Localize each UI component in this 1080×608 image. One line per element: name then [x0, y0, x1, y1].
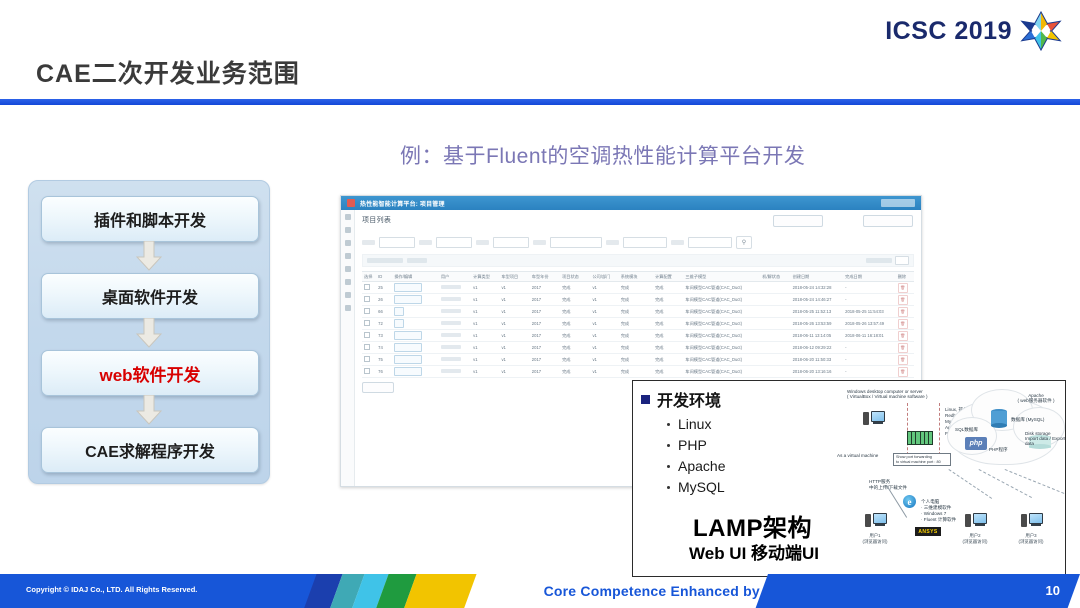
http-service-label: HTTP服务 中的上传/下载文件: [869, 479, 917, 491]
row-project-status: 完成: [560, 282, 590, 294]
row-company: v1: [590, 306, 618, 318]
bullet-square-icon: [641, 395, 650, 404]
row-system-module: 完成: [619, 294, 653, 306]
table-row[interactable]: 76 v1 v1 2017 完成 v1 完成 完成 车间模型CAC管道(CAC_…: [362, 366, 914, 378]
row-finished: -: [843, 366, 896, 378]
row-solve-status: [760, 342, 790, 354]
row-solve-status: [760, 318, 790, 330]
sidebar-item-settings-icon[interactable]: [345, 227, 351, 233]
link-line-3: [1005, 469, 1065, 494]
slide: ICSC 2019 CAE二次开发业务范围 例：基于Fluent的空调热性能计算…: [0, 0, 1080, 608]
flow-arrow-1-icon: [136, 241, 162, 271]
database-cylinder-icon: [991, 409, 1007, 429]
row-project-status: 完成: [560, 294, 590, 306]
row-id: 73: [376, 330, 392, 342]
row-solve-status: [760, 282, 790, 294]
row-calc-config: 完成: [653, 330, 683, 342]
row-calc-type: v1: [471, 354, 499, 366]
row-company: v1: [590, 366, 618, 378]
col-solve-status[interactable]: 机/解状态: [760, 272, 790, 282]
filter-input-date-from[interactable]: [623, 237, 667, 248]
row-solve-status: [760, 366, 790, 378]
host-computer-icon: [863, 411, 885, 427]
row-delete-button[interactable]: 🗑: [896, 342, 914, 354]
mysql-db-label: 数据库 (MySQL): [1011, 417, 1044, 423]
col-action[interactable]: 操作/编辑: [392, 272, 439, 282]
flow-step-4[interactable]: CAE求解程序开发: [41, 427, 259, 473]
row-action-button[interactable]: [392, 354, 439, 366]
filter-label-status: [476, 240, 489, 245]
footer-stripes: [300, 574, 540, 608]
lamp-architecture-title: LAMP架构: [693, 508, 812, 543]
filter-input-calc-type[interactable]: [436, 237, 472, 248]
row-action-button[interactable]: [392, 318, 439, 330]
filter-label-date: [606, 240, 619, 245]
row-calc-type: v1: [471, 318, 499, 330]
col-user[interactable]: 用户: [439, 272, 471, 282]
row-project-status: 完成: [560, 366, 590, 378]
col-project-status[interactable]: 项目状态: [560, 272, 590, 282]
row-checkbox[interactable]: [362, 306, 376, 318]
flow-step-3[interactable]: web软件开发: [41, 350, 259, 396]
sidebar-item-users-icon[interactable]: [345, 240, 351, 246]
app-titlebar: 热性能智能计算平台: 项目管理: [341, 196, 921, 210]
row-action-button[interactable]: [392, 330, 439, 342]
flow-step-1-label: 插件和脚本开发: [94, 207, 206, 231]
app-top-buttons: [773, 215, 913, 227]
col-delete: 删除: [896, 272, 914, 282]
row-calc-config: 完成: [653, 342, 683, 354]
dev-item-linux: Linux: [667, 416, 831, 432]
row-car-year: 2017: [530, 318, 560, 330]
col-select[interactable]: 选择: [362, 272, 376, 282]
table-row[interactable]: 72 v1 v1 2017 完成 v1 完成 完成 车间模型CAC管道(CAC_…: [362, 318, 914, 330]
app-sidebar: [341, 210, 355, 486]
flow-step-1[interactable]: 插件和脚本开发: [41, 196, 259, 242]
row-car-year: 2017: [530, 342, 560, 354]
star-burst-logo-icon: [1020, 10, 1062, 52]
client-computer-2-icon: [965, 513, 987, 529]
dev-item-apache-label: Apache: [678, 458, 725, 474]
dev-environment-block: 开发环境 Linux PHP Apache MySQL: [641, 387, 831, 495]
row-calc-type: v1: [471, 342, 499, 354]
sidebar-item-database-icon[interactable]: [345, 292, 351, 298]
sidebar-item-edit-icon[interactable]: [345, 279, 351, 285]
row-calc-config: 完成: [653, 354, 683, 366]
footer-copyright: Copyright © IDAJ Co., LTD. All Rights Re…: [26, 585, 197, 594]
row-solve-status: [760, 294, 790, 306]
table-header-row: 选择 ID 操作/编辑 用户 计算类型 车型项目 车型年份 项目状态 公司/部门…: [362, 272, 914, 282]
row-user: [439, 294, 471, 306]
row-id: 72: [376, 318, 392, 330]
row-created: 2018-06-20 11:50:33: [791, 354, 844, 366]
dev-item-php: PHP: [667, 437, 831, 453]
row-created: 2018-05-26 13:53:59: [791, 318, 844, 330]
app-logo-icon: [347, 199, 355, 207]
row-finished: -: [843, 354, 896, 366]
footer-right-band: [756, 574, 1080, 608]
disk-storage-label: Disk storage Import data / Export data: [1025, 431, 1066, 446]
row-company: v1: [590, 342, 618, 354]
filter-bar: ⚲: [362, 236, 914, 249]
row-finished: 2018-05-26 13:57:49: [843, 318, 896, 330]
col-id[interactable]: ID: [376, 272, 392, 282]
row-id: 66: [376, 306, 392, 318]
row-id: 76: [376, 366, 392, 378]
client-2-label: 用户2 (浏览器访问): [955, 533, 995, 545]
sidebar-item-reports-icon[interactable]: [345, 253, 351, 259]
row-user: [439, 354, 471, 366]
row-car-project: v1: [499, 294, 529, 306]
result-range-text: [407, 258, 427, 263]
filter-label-keyword: [533, 240, 546, 245]
table-row[interactable]: 75 v1 v1 2017 完成 v1 完成 完成 车间模型CAC管道(CAC_…: [362, 354, 914, 366]
table-row[interactable]: 25 v1 v1 2017 完成 v1 完成 完成 车间模型CAC管道(CAC_…: [362, 282, 914, 294]
row-company: v1: [590, 354, 618, 366]
row-id: 75: [376, 354, 392, 366]
row-delete-button[interactable]: 🗑: [896, 330, 914, 342]
row-project-status: 完成: [560, 342, 590, 354]
result-summary-bar: [362, 254, 914, 267]
col-created[interactable]: 创建日期: [791, 272, 844, 282]
col-finished[interactable]: 完成日期: [843, 272, 896, 282]
dev-environment-heading: 开发环境: [641, 387, 831, 411]
row-calc-config: 完成: [653, 366, 683, 378]
row-car-project: v1: [499, 342, 529, 354]
server-rack-icon: [907, 431, 933, 445]
dev-environment-label: 开发环境: [657, 387, 721, 411]
row-checkbox[interactable]: [362, 282, 376, 294]
row-sub-model: 车间模型CAC管道(CAC_Duct): [683, 342, 760, 354]
dev-item-linux-label: Linux: [678, 416, 711, 432]
row-action-button[interactable]: [392, 282, 439, 294]
table-row[interactable]: 74 v1 v1 2017 完成 v1 完成 完成 车间模型CAC管道(CAC_…: [362, 342, 914, 354]
row-calc-config: 完成: [653, 294, 683, 306]
apache-label: Apache ( web服务器软件 ): [1009, 393, 1063, 404]
flow-panel: 插件和脚本开发 桌面软件开发 web软件开发 CAE求解程序开发: [28, 180, 270, 484]
bullet-dot-icon: [667, 465, 670, 468]
row-car-project: v1: [499, 330, 529, 342]
row-finished: -: [843, 294, 896, 306]
row-company: v1: [590, 318, 618, 330]
col-calc-config[interactable]: 计算配置: [653, 272, 683, 282]
dev-item-apache: Apache: [667, 458, 831, 474]
row-delete-button[interactable]: 🗑: [896, 306, 914, 318]
row-calc-type: v1: [471, 294, 499, 306]
bullet-dot-icon: [667, 486, 670, 489]
row-id: 74: [376, 342, 392, 354]
lamp-ui-title: Web UI 移动端UI: [689, 539, 819, 564]
row-solve-status: [760, 330, 790, 342]
row-system-module: 完成: [619, 342, 653, 354]
filter-label-user: [362, 240, 375, 245]
filter-input-keyword[interactable]: [550, 237, 602, 248]
flow-arrow-2-icon: [136, 318, 162, 348]
col-calc-type[interactable]: 计算类型: [471, 272, 499, 282]
col-sub-model[interactable]: 三维子模型: [683, 272, 760, 282]
app-title: 热性能智能计算平台: 项目管理: [360, 199, 445, 208]
row-delete-button[interactable]: 🗑: [896, 366, 914, 378]
row-car-year: 2017: [530, 306, 560, 318]
client-3-label: 用户3 (浏览器访问): [1011, 533, 1051, 545]
row-system-module: 完成: [619, 366, 653, 378]
row-car-project: v1: [499, 282, 529, 294]
port-forwarding-note: Show port forwarding to virtual machine …: [893, 453, 951, 466]
row-checkbox[interactable]: [362, 294, 376, 306]
vm-host-note: Windows desktop computer or server ( Vir…: [847, 389, 987, 399]
result-count-text: [367, 258, 403, 263]
network-diagram: Windows desktop computer or server ( Vir…: [829, 381, 1065, 576]
row-id: 25: [376, 282, 392, 294]
page-size-label: [866, 258, 892, 263]
row-checkbox[interactable]: [362, 342, 376, 354]
row-project-status: 完成: [560, 354, 590, 366]
row-checkbox[interactable]: [362, 354, 376, 366]
sidebar-item-dashboard-icon[interactable]: [345, 214, 351, 220]
row-finished: 2018-06-11 16:18:01: [843, 330, 896, 342]
row-created: 2018-06-20 13:16:16: [791, 366, 844, 378]
table-row[interactable]: 26 v1 v1 2017 完成 v1 完成 完成 车间模型CAC管道(CAC_…: [362, 294, 914, 306]
row-project-status: 完成: [560, 330, 590, 342]
php-label: PHP程序: [989, 447, 1008, 453]
col-company[interactable]: 公司/部门: [590, 272, 618, 282]
row-solve-status: [760, 354, 790, 366]
row-delete-button[interactable]: 🗑: [896, 318, 914, 330]
row-action-button[interactable]: [392, 306, 439, 318]
dev-item-mysql-label: MySQL: [678, 479, 725, 495]
row-calc-type: v1: [471, 330, 499, 342]
row-car-year: 2017: [530, 330, 560, 342]
col-car-project[interactable]: 车型项目: [499, 272, 529, 282]
footer: Copyright © IDAJ Co., LTD. All Rights Re…: [0, 574, 1080, 608]
row-calc-type: v1: [471, 306, 499, 318]
client-computer-1-icon: [865, 513, 887, 529]
dev-item-php-label: PHP: [678, 437, 707, 453]
client-1-label: 用户1 (浏览器访问): [855, 533, 895, 545]
import-project-button[interactable]: [863, 215, 913, 227]
row-created: 2018-05-25 11:52:13: [791, 306, 844, 318]
row-project-status: 完成: [560, 306, 590, 318]
page-title: CAE二次开发业务范围: [36, 54, 300, 90]
row-calc-type: v1: [471, 366, 499, 378]
client-computer-3-icon: [1021, 513, 1043, 529]
sidebar-item-help-icon[interactable]: [345, 305, 351, 311]
row-user: [439, 366, 471, 378]
row-calc-config: 完成: [653, 282, 683, 294]
row-finished: 2018-05-25 11:54:03: [843, 306, 896, 318]
row-checkbox[interactable]: [362, 318, 376, 330]
virtual-machine-note: As a virtual machine: [837, 453, 878, 458]
row-company: v1: [590, 330, 618, 342]
row-user: [439, 318, 471, 330]
search-icon[interactable]: ⚲: [736, 236, 752, 249]
row-company: v1: [590, 294, 618, 306]
flow-step-3-label: web软件开发: [99, 361, 200, 386]
php-icon: php: [965, 437, 987, 450]
row-calc-type: v1: [471, 282, 499, 294]
sql-db-label: SQL数据库: [955, 427, 978, 433]
internet-explorer-icon: e: [903, 495, 916, 508]
lamp-overlay-card: 开发环境 Linux PHP Apache MySQL LAMP架构 Web U…: [632, 380, 1066, 577]
row-system-module: 完成: [619, 282, 653, 294]
row-sub-model: 车间模型CAC管道(CAC_Duct): [683, 318, 760, 330]
row-id: 26: [376, 294, 392, 306]
row-created: 2018-06-12 09:29:22: [791, 342, 844, 354]
row-created: 2018-05-24 14:46:27: [791, 294, 844, 306]
row-system-module: 完成: [619, 354, 653, 366]
bottom-new-project-button[interactable]: [362, 382, 394, 393]
row-delete-button[interactable]: 🗑: [896, 294, 914, 306]
row-car-year: 2017: [530, 282, 560, 294]
filter-input-status[interactable]: [493, 237, 529, 248]
row-sub-model: 车间模型CAC管道(CAC_Duct): [683, 330, 760, 342]
app-user-menu[interactable]: [881, 199, 915, 207]
ansys-logo-icon: ANSYS: [915, 527, 941, 536]
row-solve-status: [760, 306, 790, 318]
row-user: [439, 282, 471, 294]
filter-input-user[interactable]: [379, 237, 415, 248]
flow-step-2-label: 桌面软件开发: [102, 284, 198, 308]
table-row[interactable]: 73 v1 v1 2017 完成 v1 完成 完成 车间模型CAC管道(CAC_…: [362, 330, 914, 342]
page-size-select[interactable]: [895, 256, 909, 265]
row-calc-config: 完成: [653, 318, 683, 330]
flow-step-4-label: CAE求解程序开发: [85, 438, 215, 462]
row-system-module: 完成: [619, 318, 653, 330]
row-sub-model: 车间模型CAC管道(CAC_Duct): [683, 306, 760, 318]
row-car-project: v1: [499, 366, 529, 378]
table-row[interactable]: 66 v1 v1 2017 完成 v1 完成 完成 车间模型CAC管道(CAC_…: [362, 306, 914, 318]
row-system-module: 完成: [619, 330, 653, 342]
row-user: [439, 330, 471, 342]
col-system-module[interactable]: 系统模块: [619, 272, 653, 282]
row-car-year: 2017: [530, 294, 560, 306]
row-action-button[interactable]: [392, 342, 439, 354]
table-body: 25 v1 v1 2017 完成 v1 完成 完成 车间模型CAC管道(CAC_…: [362, 282, 914, 378]
row-sub-model: 车间模型CAC管道(CAC_Duct): [683, 366, 760, 378]
row-sub-model: 车间模型CAC管道(CAC_Duct): [683, 294, 760, 306]
row-company: v1: [590, 282, 618, 294]
title-divider: [0, 99, 1080, 105]
row-project-status: 完成: [560, 318, 590, 330]
row-action-button[interactable]: [392, 294, 439, 306]
brand-logo: ICSC 2019: [885, 10, 1062, 52]
row-created: 2018-06-11 13:14:05: [791, 330, 844, 342]
filter-label-calc-type: [419, 240, 432, 245]
row-created: 2018-05-24 14:32:28: [791, 282, 844, 294]
bullet-dot-icon: [667, 444, 670, 447]
flow-arrow-3-icon: [136, 395, 162, 425]
row-delete-button[interactable]: 🗑: [896, 354, 914, 366]
row-finished: -: [843, 282, 896, 294]
new-project-button[interactable]: [773, 215, 823, 227]
row-action-button[interactable]: [392, 366, 439, 378]
page-number: 10: [1046, 583, 1060, 598]
row-car-project: v1: [499, 306, 529, 318]
bullet-dot-icon: [667, 423, 670, 426]
subtitle: 例：基于Fluent的空调热性能计算平台开发: [400, 140, 805, 170]
dev-item-mysql: MySQL: [667, 479, 831, 495]
row-sub-model: 车间模型CAC管道(CAC_Duct): [683, 354, 760, 366]
row-system-module: 完成: [619, 306, 653, 318]
row-checkbox[interactable]: [362, 330, 376, 342]
flow-step-2[interactable]: 桌面软件开发: [41, 273, 259, 319]
row-calc-config: 完成: [653, 306, 683, 318]
row-sub-model: 车间模型CAC管道(CAC_Duct): [683, 282, 760, 294]
row-car-project: v1: [499, 354, 529, 366]
row-user: [439, 306, 471, 318]
row-user: [439, 342, 471, 354]
page-size-selector[interactable]: [866, 256, 909, 265]
row-finished: -: [843, 342, 896, 354]
row-car-project: v1: [499, 318, 529, 330]
row-delete-button[interactable]: 🗑: [896, 282, 914, 294]
brand-text: ICSC 2019: [885, 17, 1012, 46]
col-car-year[interactable]: 车型年份: [530, 272, 560, 282]
projects-table: 选择 ID 操作/编辑 用户 计算类型 车型项目 车型年份 项目状态 公司/部门…: [362, 271, 914, 378]
filter-label-date-to: [671, 240, 684, 245]
row-car-year: 2017: [530, 366, 560, 378]
row-car-year: 2017: [530, 354, 560, 366]
sidebar-item-projects-icon[interactable]: [345, 266, 351, 272]
filter-input-date-to[interactable]: [688, 237, 732, 248]
row-checkbox[interactable]: [362, 366, 376, 378]
